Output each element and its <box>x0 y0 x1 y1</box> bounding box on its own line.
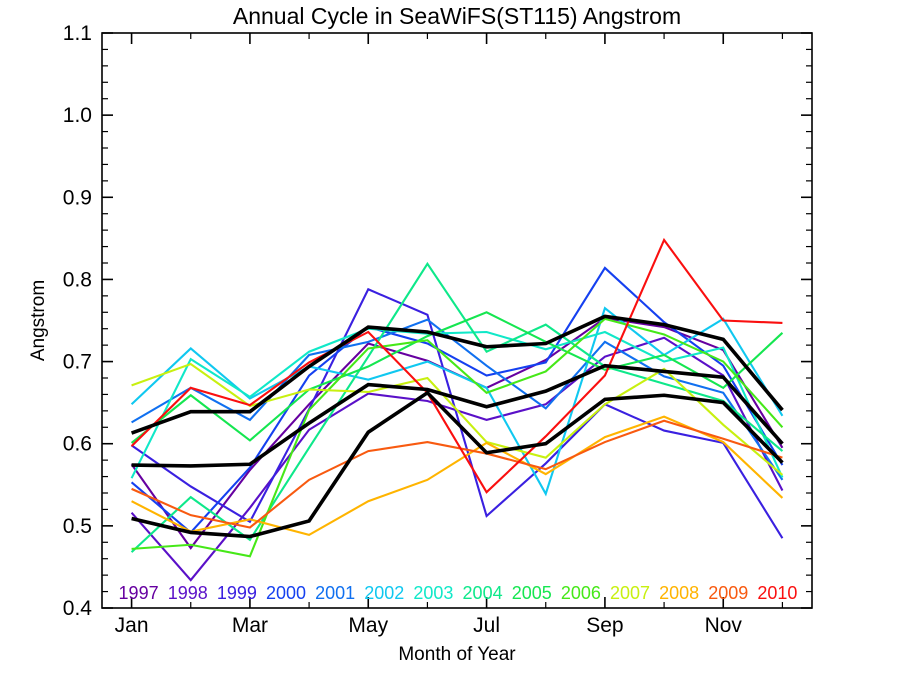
legend-item-1997[interactable]: 1997 <box>119 583 159 603</box>
x-tick-label: Jan <box>115 614 149 637</box>
axis-frame-layer <box>102 33 812 608</box>
y-tick-label: 0.7 <box>63 351 92 374</box>
y-tick-label: 1.0 <box>63 104 92 127</box>
legend-item-2004[interactable]: 2004 <box>463 583 503 603</box>
legend-item-2000[interactable]: 2000 <box>266 583 306 603</box>
x-tick-label: Nov <box>705 614 743 637</box>
legend-item-2009[interactable]: 2009 <box>708 583 748 603</box>
chart-title: Annual Cycle in SeaWiFS(ST115) Angstrom <box>233 3 681 29</box>
legend-item-1999[interactable]: 1999 <box>217 583 257 603</box>
y-tick-label: 0.9 <box>63 186 92 209</box>
plot-frame <box>102 33 812 608</box>
legend-item-2008[interactable]: 2008 <box>659 583 699 603</box>
y-tick-label: 0.5 <box>63 515 92 538</box>
plot-canvas: Annual Cycle in SeaWiFS(ST115) Angstrom … <box>0 0 900 675</box>
legend-item-2007[interactable]: 2007 <box>610 583 650 603</box>
tick-layer <box>102 33 812 608</box>
y-tick-label: 1.1 <box>63 22 92 45</box>
legend-item-2010[interactable]: 2010 <box>757 583 797 603</box>
series-line-2006 <box>132 319 783 556</box>
y-tick-label: 0.6 <box>63 433 92 456</box>
x-tick-label: Sep <box>586 614 623 637</box>
legend-item-2001[interactable]: 2001 <box>315 583 355 603</box>
legend-item-2005[interactable]: 2005 <box>512 583 552 603</box>
legend-item-2006[interactable]: 2006 <box>561 583 601 603</box>
legend-item-2002[interactable]: 2002 <box>364 583 404 603</box>
series-line-1999 <box>132 289 783 538</box>
x-axis-title: Month of Year <box>398 644 516 665</box>
legend-layer: 1997199819992000200120022003200420052006… <box>119 583 798 603</box>
chart-figure: Annual Cycle in SeaWiFS(ST115) Angstrom … <box>0 0 900 675</box>
series-line-2009 <box>132 421 783 528</box>
x-tick-label: Jul <box>473 614 500 637</box>
title-layer: Annual Cycle in SeaWiFS(ST115) Angstrom <box>233 3 681 29</box>
x-tick-label: May <box>348 614 388 637</box>
x-tick-label: Mar <box>232 614 268 637</box>
y-tick-label: 0.8 <box>63 268 92 291</box>
y-axis-title: Angstrom <box>28 280 49 361</box>
legend-item-2003[interactable]: 2003 <box>413 583 453 603</box>
legend-item-1998[interactable]: 1998 <box>168 583 208 603</box>
series-line-1997 <box>132 318 783 548</box>
y-tick-label: 0.4 <box>63 597 93 620</box>
